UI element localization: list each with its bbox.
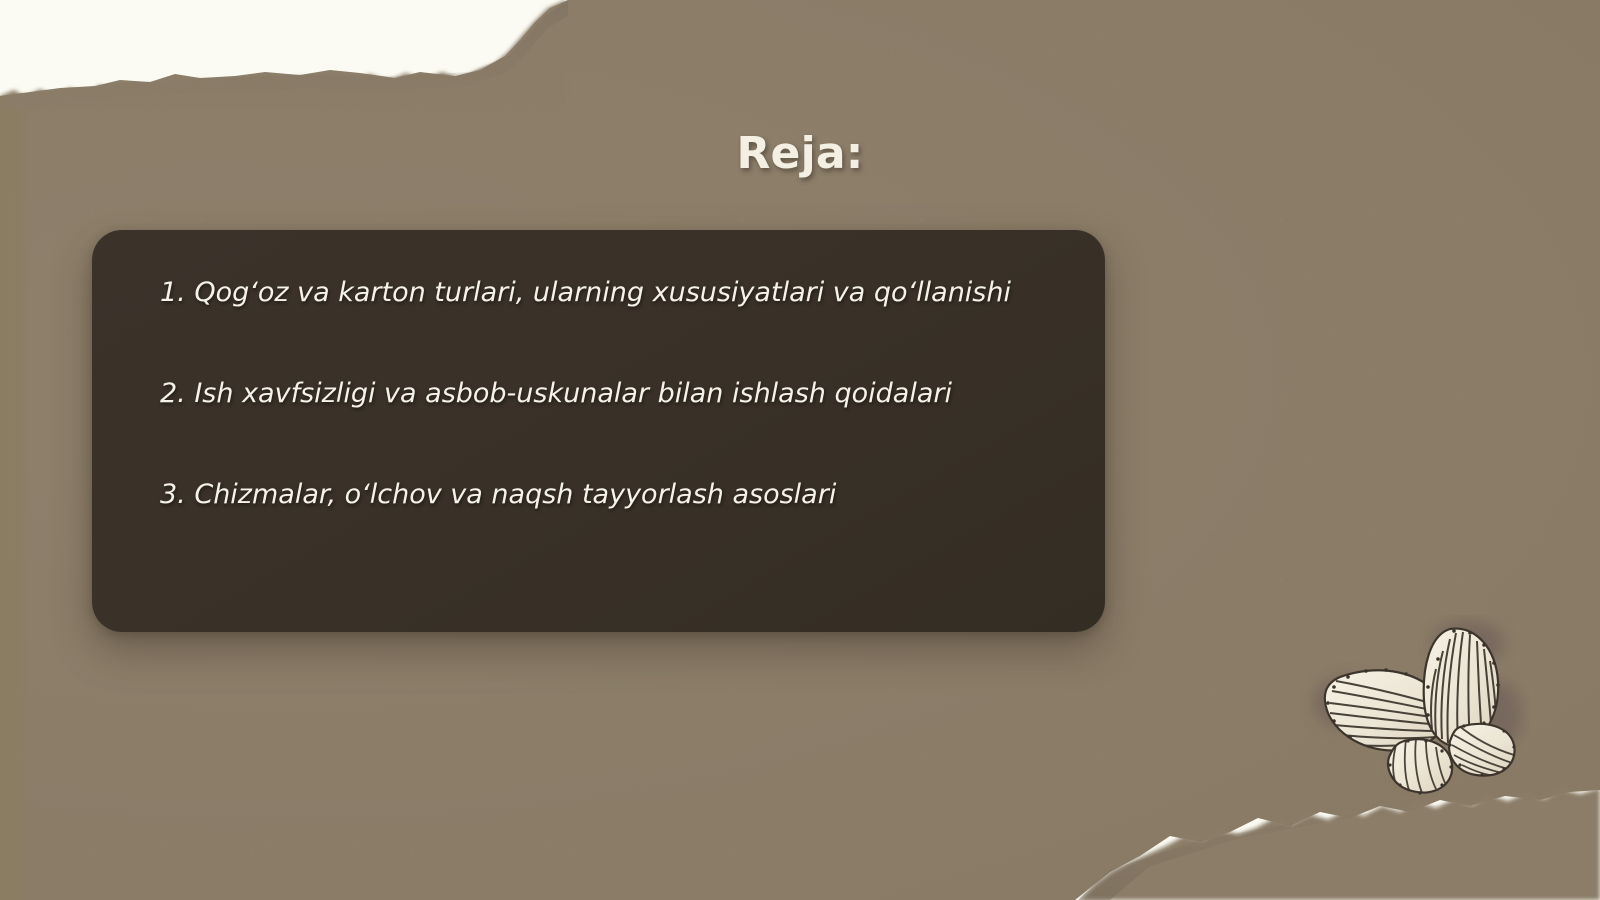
slide-title: Reja: — [0, 128, 1600, 179]
plan-list-item-3: 3. Chizmalar, o‘lchov va naqsh tayyorlas… — [160, 478, 1071, 512]
butterfly-icon — [1300, 615, 1530, 805]
plan-card: 1. Qog‘oz va karton turlari, ularning xu… — [92, 230, 1105, 632]
butterfly-wing-lower-tail — [1388, 739, 1453, 795]
presentation-slide: Reja: 1. Qog‘oz va karton turlari, ularn… — [0, 0, 1600, 900]
plan-list: 1. Qog‘oz va karton turlari, ularning xu… — [160, 276, 1071, 511]
plan-list-item-2: 2. Ish xavfsizligi va asbob-uskunalar bi… — [160, 377, 1071, 411]
plan-list-item-1: 1. Qog‘oz va karton turlari, ularning xu… — [160, 276, 1071, 310]
